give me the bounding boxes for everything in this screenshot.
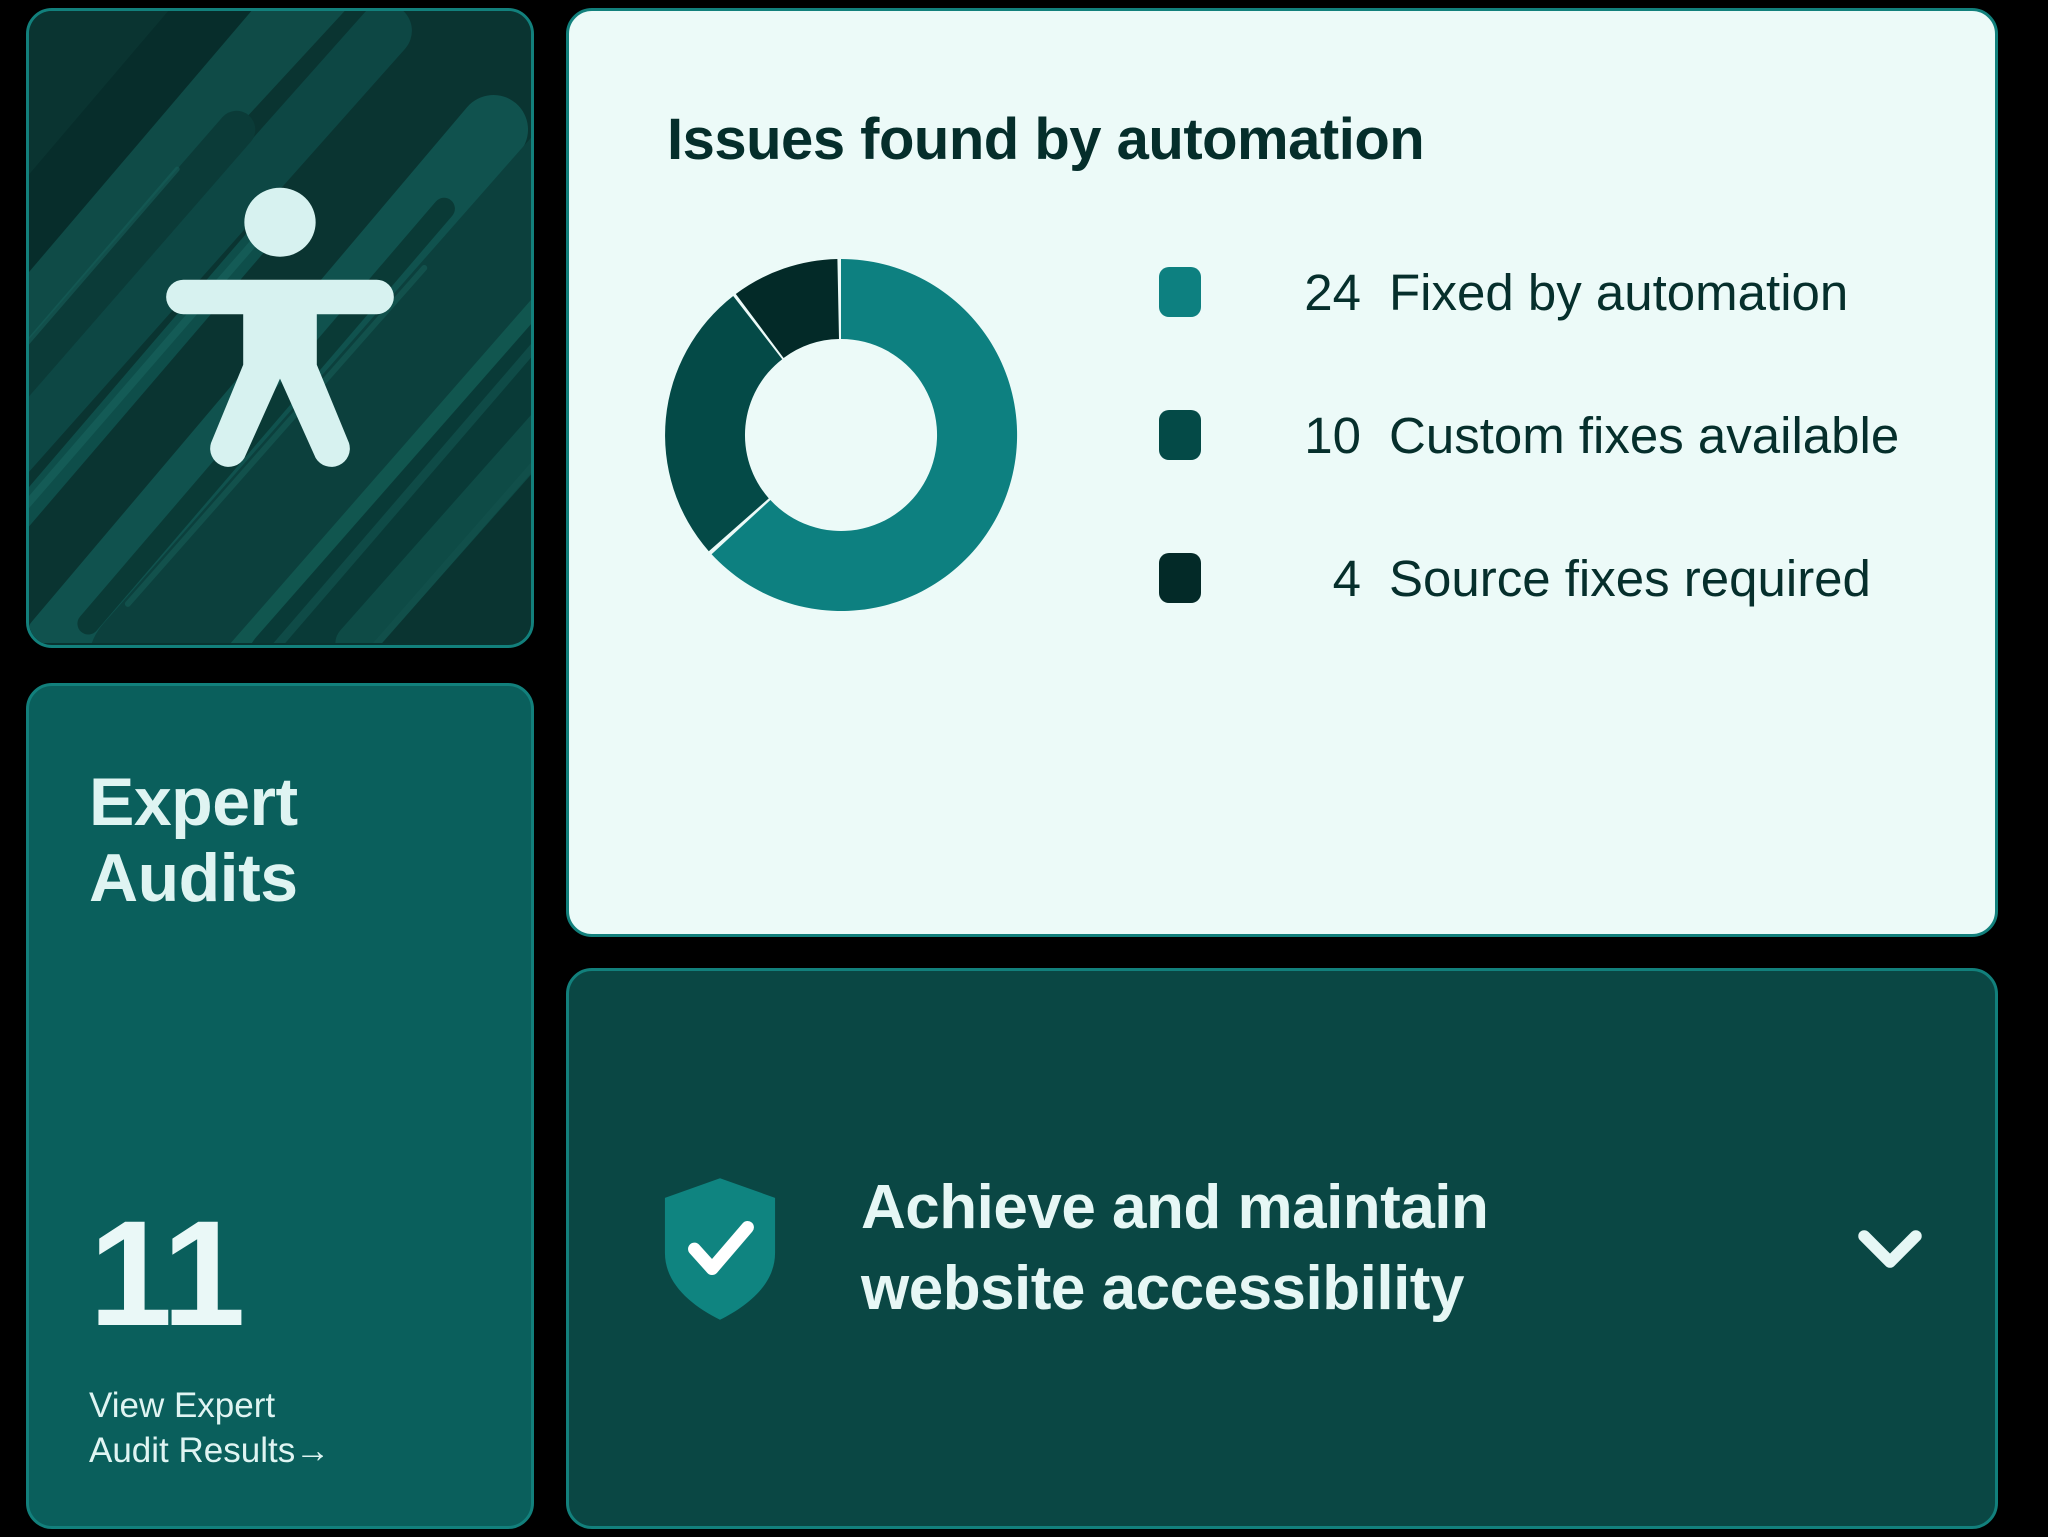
dashboard-root: Expert Audits 11 View Expert Audit Resul… [0, 0, 2048, 1537]
legend-value: 4 [1253, 549, 1361, 608]
banner-heading: Achieve and maintain website accessibili… [861, 1168, 1488, 1329]
view-expert-audit-results-link[interactable]: View Expert Audit Results→ [89, 1384, 419, 1474]
chart-body: 24 Fixed by automation 10 Custom fixes a… [569, 173, 1995, 635]
expert-audits-footer: 11 View Expert Audit Results→ [89, 1202, 471, 1474]
accessibility-banner-card[interactable]: Achieve and maintain website accessibili… [566, 968, 1998, 1529]
expert-audits-title: Expert Audits [89, 764, 471, 916]
chevron-down-icon[interactable] [1847, 1206, 1933, 1292]
chart-legend: 24 Fixed by automation 10 Custom fixes a… [1159, 263, 1899, 608]
accessibility-person-icon [165, 183, 395, 473]
legend-row[interactable]: 24 Fixed by automation [1159, 263, 1899, 322]
banner-heading-line1: Achieve and maintain [861, 1168, 1488, 1249]
shield-check-icon [661, 1178, 779, 1320]
arrow-right-icon: → [295, 1431, 330, 1470]
issues-donut-chart [641, 235, 1041, 635]
legend-swatch-icon [1159, 553, 1201, 603]
legend-swatch-icon [1159, 410, 1201, 460]
view-results-line2-text: Audit Results [89, 1431, 295, 1470]
chart-title: Issues found by automation [569, 106, 1995, 173]
accessibility-icon-card [26, 8, 534, 648]
legend-row[interactable]: 4 Source fixes required [1159, 549, 1899, 608]
legend-label: Source fixes required [1389, 549, 1871, 608]
expert-audits-title-line2: Audits [89, 840, 471, 916]
issues-chart-card: Issues found by automation 24 Fixed b [566, 8, 1998, 937]
expert-audits-count: 11 [89, 1202, 471, 1345]
expert-audits-card[interactable]: Expert Audits 11 View Expert Audit Resul… [26, 683, 534, 1529]
legend-swatch-icon [1159, 267, 1201, 317]
legend-value: 24 [1253, 263, 1361, 322]
legend-label: Fixed by automation [1389, 263, 1848, 322]
expert-audits-title-line1: Expert [89, 764, 471, 840]
view-results-line2: Audit Results→ [89, 1429, 419, 1474]
view-results-line1: View Expert [89, 1384, 419, 1429]
legend-label: Custom fixes available [1389, 406, 1899, 465]
legend-value: 10 [1253, 406, 1361, 465]
legend-row[interactable]: 10 Custom fixes available [1159, 406, 1899, 465]
banner-heading-line2: website accessibility [861, 1249, 1488, 1330]
